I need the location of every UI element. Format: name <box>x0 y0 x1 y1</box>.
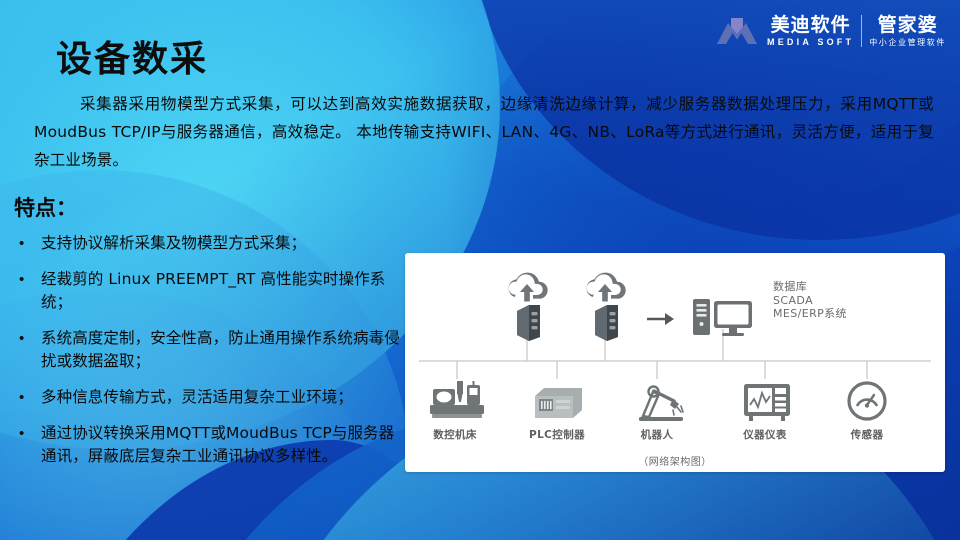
flow-arrow-icon <box>647 313 674 325</box>
logo-brand-cn: 美迪软件 <box>771 16 851 35</box>
plc-controller-icon <box>535 388 582 418</box>
diagram-caption: （网络架构图） <box>405 453 945 468</box>
list-item: • 多种信息传输方式，灵活适用复杂工业环境； <box>14 386 406 409</box>
robot-arm-icon <box>639 387 683 422</box>
features-list: • 支持协议解析采集及物模型方式采集； • 经裁剪的 Linux PREEMPT… <box>14 232 406 481</box>
gateway-device-icon <box>595 305 618 341</box>
system-label-database: 数据库 <box>773 280 847 294</box>
logo-brand-block: 美迪软件 MEDIA SOFT <box>767 16 854 47</box>
sensor-gauge-icon <box>849 383 885 419</box>
slide-canvas: 美迪软件 MEDIA SOFT 管家婆 中小企业管理软件 设备数采 采集器采用物… <box>0 0 960 540</box>
bullet-icon: • <box>14 386 41 409</box>
network-diagram: 数据库 SCADA MES/ERP系统 数控机床 PLC控制器 机器人 仪器仪表… <box>405 253 945 472</box>
list-item-label: 系统高度定制，安全性高，防止通用操作系统病毒侵扰或数据盗取； <box>41 327 406 373</box>
node-label-plc: PLC控制器 <box>502 427 612 442</box>
page-title: 设备数采 <box>56 30 208 82</box>
logo-divider <box>861 15 862 47</box>
cnc-machine-icon <box>430 381 484 418</box>
cloud-upload-icon <box>508 273 547 302</box>
node-label-sensor: 传感器 <box>812 427 922 442</box>
list-item: • 系统高度定制，安全性高，防止通用操作系统病毒侵扰或数据盗取； <box>14 327 406 373</box>
bullet-icon: • <box>14 327 41 350</box>
node-label-cnc: 数控机床 <box>405 427 510 442</box>
list-item-label: 通过协议转换采用MQTT或MoudBus TCP与服务器通讯，屏蔽底层复杂工业通… <box>41 422 406 468</box>
logo-text-group: 美迪软件 MEDIA SOFT 管家婆 中小企业管理软件 <box>767 15 946 47</box>
system-labels: 数据库 SCADA MES/ERP系统 <box>773 280 847 321</box>
node-label-robot: 机器人 <box>602 427 712 442</box>
network-architecture-card: 数据库 SCADA MES/ERP系统 数控机床 PLC控制器 机器人 仪器仪表… <box>405 253 945 472</box>
logo-product-cn: 管家婆 <box>878 16 938 35</box>
features-heading: 特点： <box>14 192 77 222</box>
logo-product-sub: 中小企业管理软件 <box>869 39 946 47</box>
system-label-scada: SCADA <box>773 294 847 308</box>
list-item-label: 多种信息传输方式，灵活适用复杂工业环境； <box>41 386 353 409</box>
bullet-icon: • <box>14 422 41 445</box>
logo-brand-en: MEDIA SOFT <box>767 38 854 47</box>
bullet-icon: • <box>14 268 41 291</box>
list-item: • 支持协议解析采集及物模型方式采集； <box>14 232 406 255</box>
brand-logo: 美迪软件 MEDIA SOFT 管家婆 中小企业管理软件 <box>715 8 946 54</box>
bullet-icon: • <box>14 232 41 255</box>
list-item-label: 经裁剪的 Linux PREEMPT_RT 高性能实时操作系统； <box>41 268 406 314</box>
logo-product-block: 管家婆 中小企业管理软件 <box>869 16 946 47</box>
list-item-label: 支持协议解析采集及物模型方式采集； <box>41 232 306 255</box>
media-soft-mark-icon <box>715 14 759 48</box>
system-label-mes-erp: MES/ERP系统 <box>773 307 847 321</box>
intro-paragraph: 采集器采用物模型方式采集，可以达到高效实施数据获取，边缘清洗边缘计算，减少服务器… <box>34 90 934 174</box>
list-item: • 通过协议转换采用MQTT或MoudBus TCP与服务器通讯，屏蔽底层复杂工… <box>14 422 406 468</box>
node-label-instrument: 仪器仪表 <box>710 427 820 442</box>
gateway-device-icon <box>517 305 540 341</box>
list-item: • 经裁剪的 Linux PREEMPT_RT 高性能实时操作系统； <box>14 268 406 314</box>
instrument-icon <box>744 384 790 421</box>
cloud-upload-icon <box>586 273 625 302</box>
